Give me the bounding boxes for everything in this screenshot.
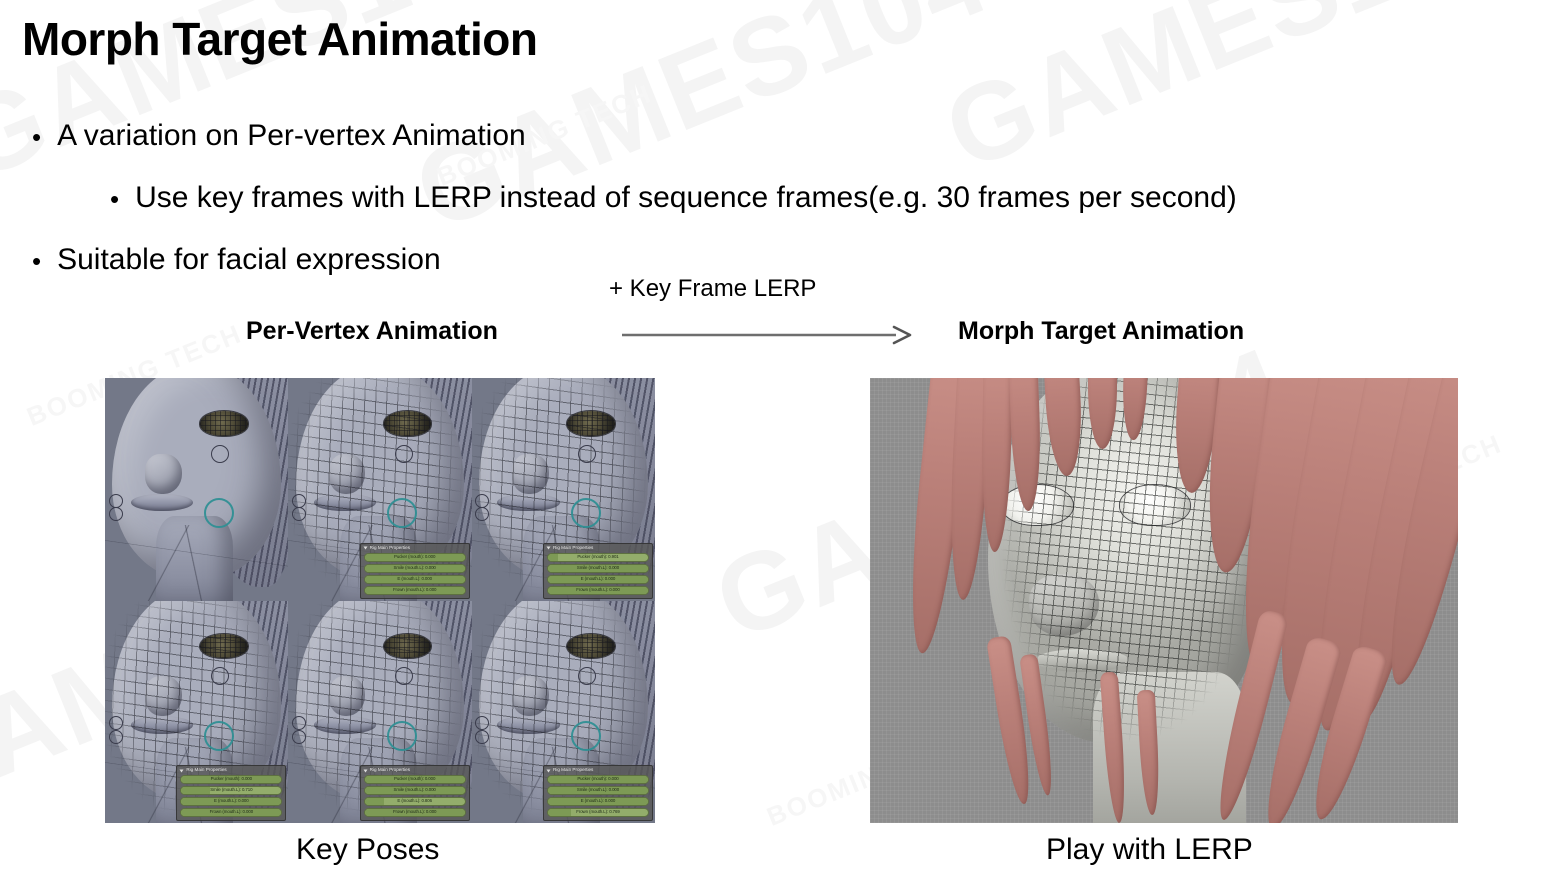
- rig-property-slider[interactable]: Pucker (mouth): 0.000: [364, 775, 466, 784]
- rig-property-slider[interactable]: Pucker (mouth): 0.000: [547, 775, 649, 784]
- marker-ring-icon: [292, 507, 306, 521]
- bullet-marker-icon: •: [110, 186, 119, 212]
- face-render: [105, 378, 288, 601]
- disclosure-triangle-icon[interactable]: [547, 769, 551, 772]
- marker-ring-icon: [395, 667, 413, 685]
- bullet-text-2: Use key frames with LERP instead of sequ…: [135, 182, 1237, 214]
- slider-label: E (mouth.L): 0.000: [548, 798, 648, 805]
- rig-property-slider[interactable]: E (mouth.L): 0.000: [547, 797, 649, 806]
- key-pose-thumbnail: Rig Main PropertiesPucker (mouth): 0.000…: [105, 601, 288, 824]
- key-pose-thumbnail: Rig Main PropertiesPucker (mouth): 0.901…: [472, 378, 655, 601]
- bullet-text-1: A variation on Per-vertex Animation: [57, 120, 526, 152]
- rig-property-slider[interactable]: E (mouth.L): 0.000: [547, 575, 649, 584]
- watermark-text: GAMES104: [928, 0, 1535, 195]
- rig-property-slider[interactable]: Smile (mouth.L): 0.000: [364, 564, 466, 573]
- rig-property-slider[interactable]: Frown (mouth.L): 0.000: [364, 808, 466, 817]
- rig-property-slider[interactable]: Smile (mouth.L): 0.000: [364, 786, 466, 795]
- rig-property-slider[interactable]: Frown (mouth.L): 0.000: [364, 586, 466, 595]
- rig-property-slider[interactable]: Smile (mouth.L): 0.000: [547, 786, 649, 795]
- rig-property-slider[interactable]: Frown (mouth.L): 0.000: [180, 808, 282, 817]
- rig-panel-header[interactable]: Rig Main Properties: [547, 768, 649, 773]
- rig-property-slider[interactable]: Pucker (mouth): 0.000: [364, 553, 466, 562]
- rig-property-slider[interactable]: Smile (mouth.L): 0.710: [180, 786, 282, 795]
- cursor-ring-icon: [571, 498, 601, 528]
- disclosure-triangle-icon[interactable]: [547, 547, 551, 550]
- slider-label: E (mouth.L): 0.806: [365, 798, 465, 805]
- marker-ring-icon: [109, 716, 123, 730]
- rig-main-properties-panel[interactable]: Rig Main PropertiesPucker (mouth): 0.000…: [360, 765, 470, 821]
- rig-property-slider[interactable]: Pucker (mouth): 0.000: [180, 775, 282, 784]
- rig-property-slider[interactable]: E (mouth.L): 0.000: [364, 575, 466, 584]
- rig-panel-header[interactable]: Rig Main Properties: [364, 546, 466, 551]
- marker-ring-icon: [292, 494, 306, 508]
- rig-main-properties-panel[interactable]: Rig Main PropertiesPucker (mouth): 0.901…: [543, 543, 653, 599]
- rig-property-slider[interactable]: Frown (mouth.L): 0.000: [547, 586, 649, 595]
- marker-ring-icon: [395, 445, 413, 463]
- slider-label: E (mouth.L): 0.000: [181, 798, 281, 805]
- rig-property-slider[interactable]: E (mouth.L): 0.000: [180, 797, 282, 806]
- key-poses-grid: Rig Main PropertiesPucker (mouth): 0.000…: [105, 378, 655, 823]
- left-caption: Key Poses: [296, 833, 439, 867]
- marker-ring-icon: [109, 494, 123, 508]
- marker-ring-icon: [578, 445, 596, 463]
- key-pose-thumbnail: [105, 378, 288, 601]
- slider-label: Smile (mouth.L): 0.000: [365, 787, 465, 794]
- key-pose-thumbnail: Rig Main PropertiesPucker (mouth): 0.000…: [472, 601, 655, 824]
- rig-property-slider[interactable]: E (mouth.L): 0.806: [364, 797, 466, 806]
- slider-label: Smile (mouth.L): 0.000: [548, 787, 648, 794]
- bullet-item-1: • A variation on Per-vertex Animation: [32, 120, 526, 152]
- rig-property-slider[interactable]: Frown (mouth.L): 0.769: [547, 808, 649, 817]
- cursor-ring-icon: [204, 498, 234, 528]
- marker-ring-icon: [109, 507, 123, 521]
- cursor-ring-icon: [571, 721, 601, 751]
- marker-ring-icon: [109, 730, 123, 744]
- slider-label: Smile (mouth.L): 0.000: [365, 565, 465, 572]
- slider-label: Smile (mouth.L): 0.000: [548, 565, 648, 572]
- slider-label: Frown (mouth.L): 0.000: [365, 809, 465, 816]
- bullet-text-3: Suitable for facial expression: [57, 244, 441, 276]
- bullet-marker-icon: •: [32, 248, 41, 274]
- page-title: Morph Target Animation: [22, 12, 537, 66]
- slider-label: Smile (mouth.L): 0.710: [181, 787, 281, 794]
- key-pose-thumbnail: Rig Main PropertiesPucker (mouth): 0.000…: [288, 378, 471, 601]
- slider-label: Pucker (mouth): 0.000: [548, 776, 648, 783]
- rig-panel-header[interactable]: Rig Main Properties: [364, 768, 466, 773]
- marker-ring-icon: [211, 445, 229, 463]
- slider-label: Frown (mouth.L): 0.000: [365, 587, 465, 594]
- slider-label: Pucker (mouth): 0.000: [365, 554, 465, 561]
- slider-label: E (mouth.L): 0.000: [365, 576, 465, 583]
- bullet-marker-icon: •: [32, 124, 41, 150]
- bullet-item-2: • Use key frames with LERP instead of se…: [110, 182, 1237, 214]
- arrow-annotation-label: + Key Frame LERP: [609, 275, 816, 303]
- right-section-heading: Morph Target Animation: [958, 317, 1244, 346]
- rig-property-slider[interactable]: Smile (mouth.L): 0.000: [547, 564, 649, 573]
- marker-ring-icon: [292, 730, 306, 744]
- face-nose: [145, 454, 182, 494]
- slider-label: Pucker (mouth): 0.000: [365, 776, 465, 783]
- play-with-lerp-render: [870, 378, 1458, 823]
- disclosure-triangle-icon[interactable]: [363, 547, 367, 550]
- marker-ring-icon: [475, 730, 489, 744]
- slider-label: Pucker (mouth): 0.000: [181, 776, 281, 783]
- rig-main-properties-panel[interactable]: Rig Main PropertiesPucker (mouth): 0.000…: [543, 765, 653, 821]
- rig-panel-title: Rig Main Properties: [370, 768, 410, 773]
- marker-ring-icon: [475, 494, 489, 508]
- rig-panel-header[interactable]: Rig Main Properties: [547, 546, 649, 551]
- slider-label: Frown (mouth.L): 0.000: [548, 587, 648, 594]
- rig-property-slider[interactable]: Pucker (mouth): 0.901: [547, 553, 649, 562]
- rig-panel-title: Rig Main Properties: [186, 768, 226, 773]
- left-section-heading: Per-Vertex Animation: [246, 317, 498, 346]
- key-pose-thumbnail: Rig Main PropertiesPucker (mouth): 0.000…: [288, 601, 471, 824]
- rig-panel-title: Rig Main Properties: [370, 546, 410, 551]
- bullet-item-3: • Suitable for facial expression: [32, 244, 441, 276]
- cursor-ring-icon: [387, 721, 417, 751]
- slider-label: Pucker (mouth): 0.901: [548, 554, 648, 561]
- rig-main-properties-panel[interactable]: Rig Main PropertiesPucker (mouth): 0.000…: [360, 543, 470, 599]
- disclosure-triangle-icon[interactable]: [363, 769, 367, 772]
- slider-label: E (mouth.L): 0.000: [548, 576, 648, 583]
- slider-label: Frown (mouth.L): 0.000: [181, 809, 281, 816]
- scene-guide-lines: [105, 525, 288, 601]
- disclosure-triangle-icon[interactable]: [180, 769, 184, 772]
- rig-main-properties-panel[interactable]: Rig Main PropertiesPucker (mouth): 0.000…: [176, 765, 286, 821]
- slider-label: Frown (mouth.L): 0.769: [548, 809, 648, 816]
- face-eye: [200, 411, 248, 435]
- rig-panel-header[interactable]: Rig Main Properties: [180, 768, 282, 773]
- cursor-ring-icon: [204, 721, 234, 751]
- rig-panel-title: Rig Main Properties: [553, 768, 593, 773]
- slide-canvas: GAMES104GAMES104GAMES104GAMES104GAMES104…: [0, 0, 1548, 887]
- right-caption: Play with LERP: [1046, 833, 1253, 867]
- rig-panel-title: Rig Main Properties: [553, 546, 593, 551]
- right-arrow-icon: [620, 322, 912, 348]
